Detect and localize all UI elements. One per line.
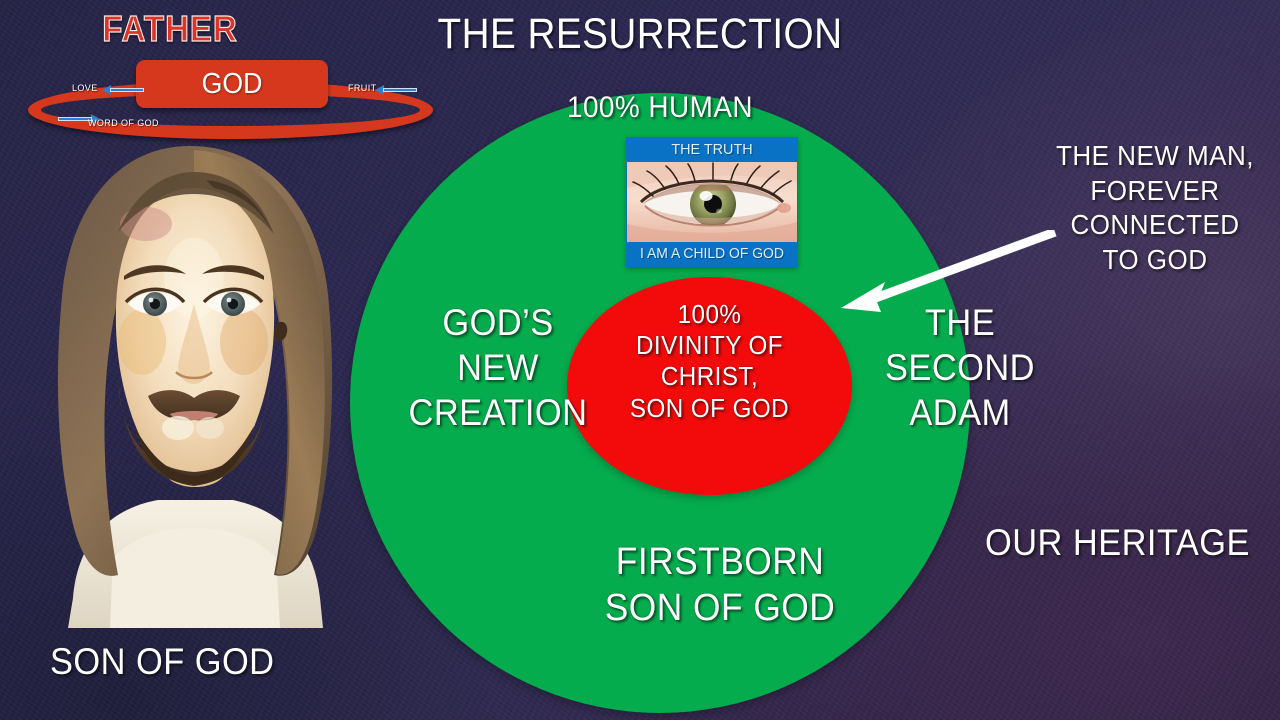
annotation-arrow-icon — [815, 230, 1065, 330]
left-arrow-icon — [102, 86, 144, 93]
jesus-portrait — [18, 128, 368, 628]
truth-eye-card: THE TRUTH — [626, 137, 798, 267]
slide-canvas: THE RESURRECTION FATHER GOD LOVE FRUIT W… — [0, 0, 1280, 720]
father-heading: FATHER — [23, 8, 317, 50]
label-gods-new-creation: GOD’S NEW CREATION — [405, 300, 591, 435]
label-love: LOVE — [72, 83, 98, 93]
god-box: GOD — [136, 60, 328, 108]
divinity-text: 100% DIVINITY OF CHRIST, SON OF GOD — [577, 299, 842, 424]
caption-son-of-god: SON OF GOD — [50, 643, 329, 682]
label-firstborn-son-of-god: FIRSTBORN SON OF GOD — [478, 539, 962, 632]
god-box-label: GOD — [144, 60, 321, 108]
father-god-diagram: FATHER GOD LOVE FRUIT WORD OF GOD — [10, 0, 440, 150]
human-eye-photo — [627, 162, 797, 242]
label-word-of-god: WORD OF GOD — [88, 118, 159, 128]
eye-card-header: THE TRUTH — [630, 138, 793, 162]
caption-our-heritage: OUR HERITAGE — [985, 524, 1264, 563]
annotation-new-man: THE NEW MAN, FOREVER CONNECTED TO GOD — [1043, 139, 1266, 278]
eye-card-footer: I AM A CHILD OF GOD — [630, 242, 793, 266]
label-100-percent-human: 100% HUMAN — [372, 92, 949, 124]
